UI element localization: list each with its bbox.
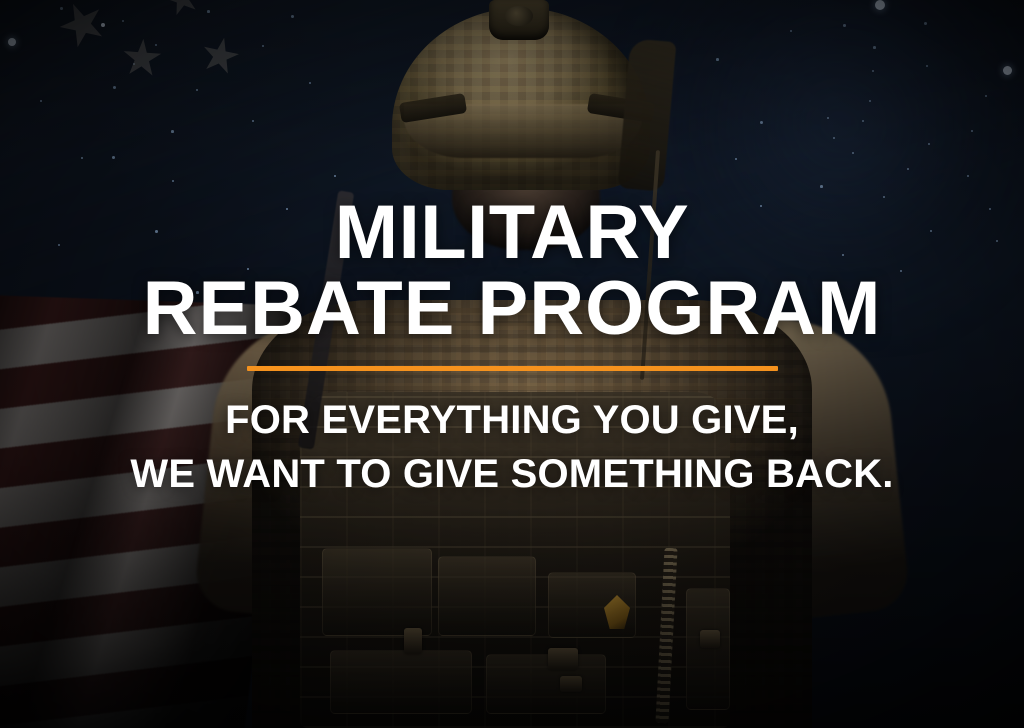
subheadline-line-2: WE WANT TO GIVE SOMETHING BACK. [130,447,893,501]
page-title: MILITARY REBATE PROGRAM [0,0,1024,344]
accent-divider [247,366,778,371]
subheadline: FOR EVERYTHING YOU GIVE, WE WANT TO GIVE… [130,393,893,502]
military-rebate-banner: MILITARY REBATE PROGRAM FOR EVERYTHING Y… [0,0,1024,728]
subheadline-line-1: FOR EVERYTHING YOU GIVE, [130,393,893,447]
headline-line-1: MILITARY [0,198,1024,268]
headline-line-2: REBATE PROGRAM [0,274,1024,344]
banner-content: MILITARY REBATE PROGRAM FOR EVERYTHING Y… [0,0,1024,728]
